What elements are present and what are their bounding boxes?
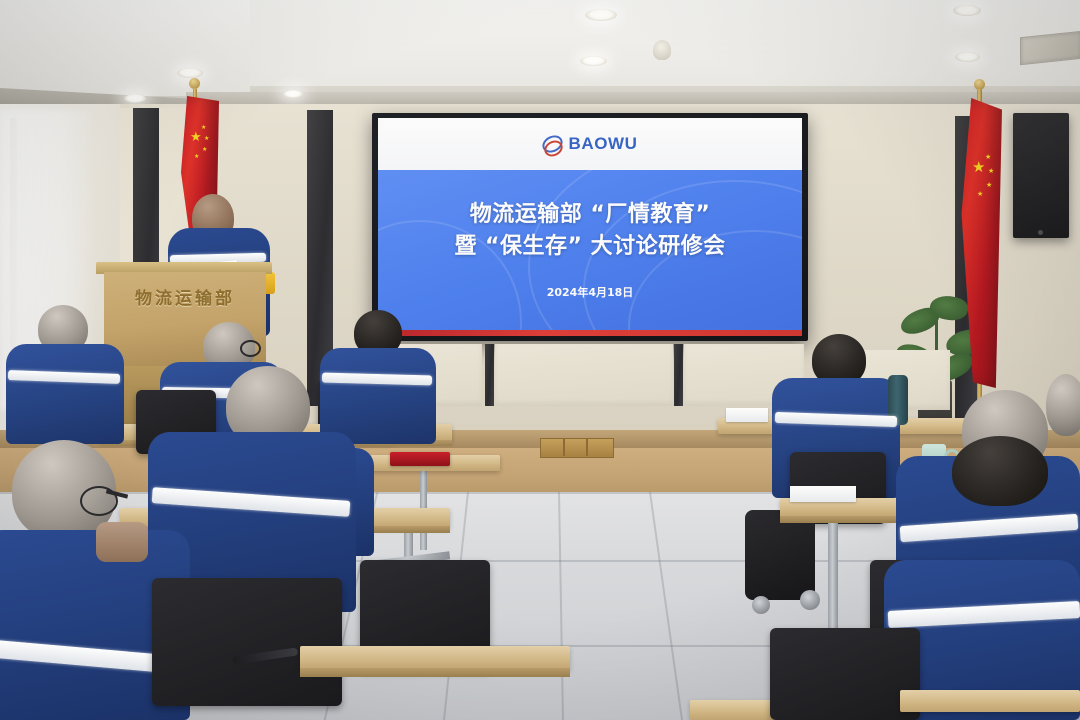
red-folder [390,452,450,466]
panel-divider [674,344,683,406]
slide-date: 2024年4月18日 [378,284,802,300]
desk [300,646,570,670]
stage-wall-panel [495,344,673,406]
ceiling-downlight-icon [580,56,607,66]
flag-star-icon: ★ [190,130,202,143]
flag-star-icon: ★ [986,182,992,189]
slide-title-line2: 暨 “保生存” 大讨论研修会 [378,228,802,260]
flag-star-icon: ★ [202,147,207,153]
flag-star-icon: ★ [194,154,199,160]
flag-star-icon: ★ [985,154,991,161]
floor-socket-box [540,438,614,458]
attendee-hand [96,522,148,562]
ceiling-downlight-icon [283,90,303,98]
flag-star-icon: ★ [972,160,985,175]
presentation-screen[interactable]: BAOWU 物流运输部 “厂情教育” 暨 “保生存” 大讨论研修会 2024年4… [378,118,802,336]
conference-room-photo: ★ ★ ★ ★ ★ ★ ★ ★ ★ ★ BAOWU 物流运输部 “厂情教育 [0,0,1080,720]
chair [152,578,342,706]
panel-divider [485,344,494,406]
document-papers [726,408,768,422]
desk-edge [300,668,570,677]
wall-speaker [1013,113,1069,238]
attendee [320,348,436,444]
flag-star-icon: ★ [201,125,206,131]
flag-star-icon: ★ [204,136,209,142]
flag-star-icon: ★ [977,191,983,198]
chair [770,628,920,720]
ceiling-downlight-icon [955,52,980,62]
floor-socket-divider [563,438,565,456]
sprinkler-head-icon [653,40,671,60]
desk-leg [828,520,838,636]
attendee-head [1046,374,1080,436]
slide-title-line1: 物流运输部 “厂情教育” [378,196,802,228]
slide-accent-bar [378,330,802,336]
document-papers [790,486,856,502]
ceiling-soffit-left [0,0,250,96]
desk [900,690,1080,712]
flag-star-icon: ★ [988,168,994,175]
attendee-head [952,436,1048,506]
chair-base [745,510,815,600]
ceiling-downlight-icon [585,9,617,21]
ceiling-downlight-icon [124,94,146,103]
ceiling-downlight-icon [953,5,981,16]
desk-caster-icon [800,590,820,610]
floor-socket-divider [586,438,588,456]
podium-sign-text: 物流运输部 [104,284,266,309]
eyeglasses-icon [240,340,261,357]
attendee [6,344,124,444]
baowu-logo: BAOWU [378,128,802,160]
speaker-screw-icon [1038,230,1043,235]
baowu-ring-logo-icon [542,135,563,154]
chair-caster-icon [752,596,770,614]
ceiling-downlight-icon [177,68,203,78]
baowu-logo-text: BAOWU [568,134,637,154]
